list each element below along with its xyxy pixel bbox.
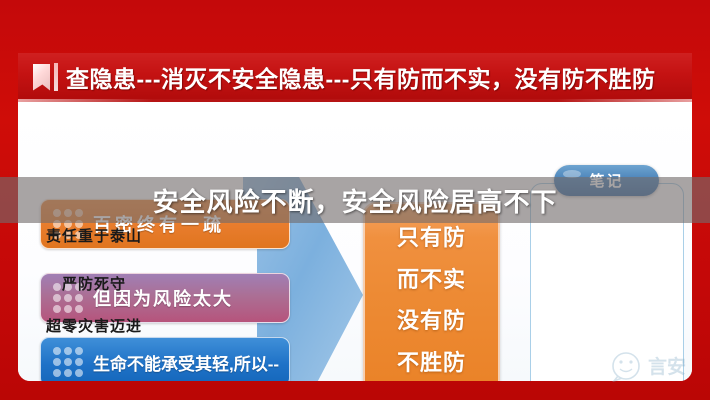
note-line: 严防死守 <box>18 273 170 294</box>
title-underline <box>18 99 692 102</box>
center-panel-line: 只有防 <box>397 220 466 252</box>
title-divider-bar <box>54 63 58 91</box>
caption-text: 安全风险不断，安全风险居高不下 <box>0 177 710 223</box>
watermark-logo: 言安 <box>604 348 696 382</box>
watermark-text: 言安 <box>648 355 686 378</box>
note-line: 责任重于泰山 <box>18 225 170 246</box>
note-line: 超零灾害迈进 <box>18 315 170 336</box>
center-panel-line: 不胜防 <box>397 345 466 377</box>
page-title: 查隐患---消灭不安全隐患---只有防而不实，没有防不胜防 <box>66 60 655 94</box>
list-item-label: 生命不能承受其轻,所以-- <box>93 350 279 375</box>
slide-screenshot: 查隐患---消灭不安全隐患---只有防而不实，没有防不胜防 <box>0 0 710 400</box>
dot-grid-icon <box>53 347 87 377</box>
center-highlight-panel: 只有防 而不实 没有防 不胜防 <box>363 202 500 381</box>
list-item[interactable]: 生命不能承受其轻,所以-- <box>40 337 290 381</box>
red-flag-icon <box>33 64 50 91</box>
center-panel-line: 没有防 <box>397 303 466 335</box>
center-panel-line: 而不实 <box>397 262 466 294</box>
slide-body: 百密终有一疏 但因为风险太大 生命不能承受其轻,所以-- 只有防 而不实 没有防… <box>18 105 692 381</box>
slide-title-bar: 查隐患---消灭不安全隐患---只有防而不实，没有防不胜防 <box>18 53 692 101</box>
